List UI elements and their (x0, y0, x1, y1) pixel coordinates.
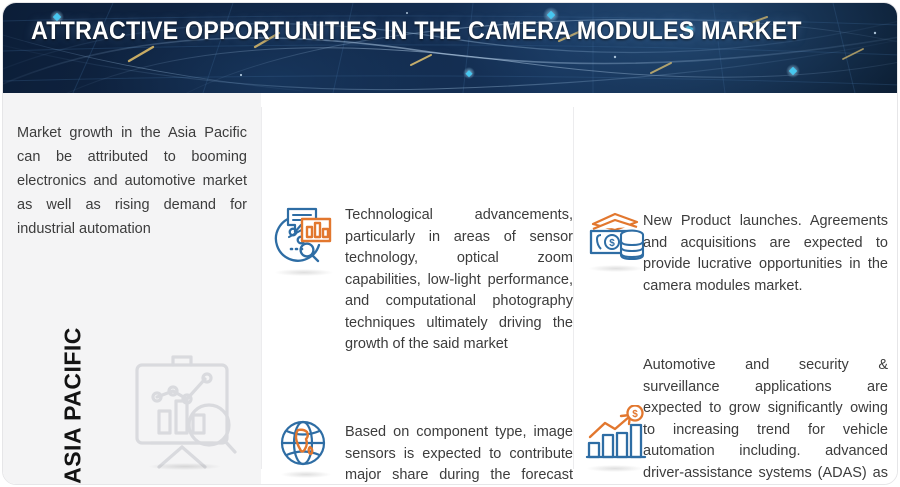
icon-shadow (589, 265, 643, 272)
region-label: ASIA PACIFIC (61, 326, 86, 486)
growth-bar-chart-dollar-icon: $ (585, 405, 647, 463)
infographic-frame: ATTRACTIVE OPPORTUNITIES IN THE CAMERA M… (2, 2, 898, 485)
left-panel-description: Market growth in the Asia Pacific can be… (17, 121, 247, 241)
card-text: New Product launches. Agreements and acq… (643, 211, 888, 297)
left-region-panel: Market growth in the Asia Pacific can be… (3, 93, 261, 485)
presentation-board-analytics-icon (121, 351, 243, 469)
icon-shadow (587, 465, 643, 472)
header-banner: ATTRACTIVE OPPORTUNITIES IN THE CAMERA M… (3, 3, 898, 93)
page-title: ATTRACTIVE OPPORTUNITIES IN THE CAMERA M… (31, 17, 802, 46)
globe-icon (277, 418, 329, 470)
money-banknote-coins-icon: $ (587, 211, 645, 263)
card-text: Automotive and security & surveillance a… (643, 355, 888, 485)
column-divider-left (261, 107, 262, 469)
pie-chart-analytics-magnifier-icon (271, 205, 333, 267)
card-text: Technological advancements, particularly… (345, 205, 573, 356)
content-area: Market growth in the Asia Pacific can be… (3, 93, 898, 485)
svg-text:$: $ (632, 409, 638, 420)
icon-shadow (275, 269, 333, 276)
icon-shadow (281, 471, 331, 478)
svg-text:$: $ (609, 238, 615, 249)
column-divider-right (573, 107, 574, 469)
icon-shadow (149, 463, 221, 470)
card-text: Based on component type, image sensors i… (345, 422, 573, 485)
